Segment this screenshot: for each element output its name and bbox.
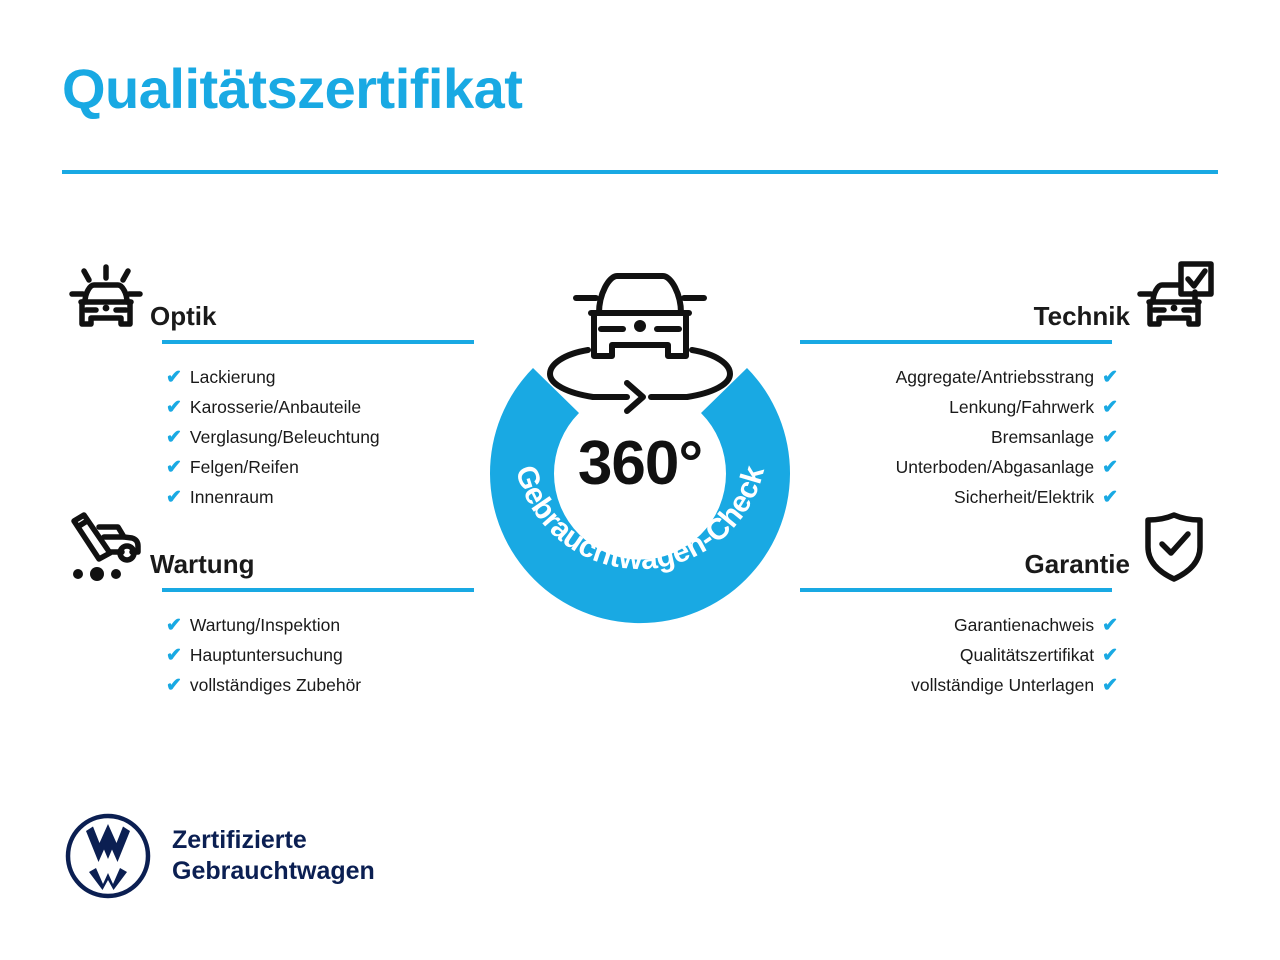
title-divider bbox=[62, 170, 1218, 174]
list-item: ✔Karosserie/Anbauteile bbox=[62, 392, 474, 422]
list-item-label: Verglasung/Beleuchtung bbox=[190, 422, 380, 452]
section-divider-technik bbox=[800, 340, 1112, 344]
list-item: Bremsanlage✔ bbox=[800, 422, 1218, 452]
shield-check-icon bbox=[1130, 510, 1218, 582]
section-divider-wartung bbox=[162, 588, 474, 592]
list-item-label: Lenkung/Fahrwerk bbox=[949, 392, 1094, 422]
check-icon: ✔ bbox=[166, 488, 182, 507]
check-icon: ✔ bbox=[1102, 676, 1118, 695]
list-item: ✔Verglasung/Beleuchtung bbox=[62, 422, 474, 452]
check-icon: ✔ bbox=[166, 398, 182, 417]
checklist-optik: ✔Lackierung ✔Karosserie/Anbauteile ✔Verg… bbox=[62, 362, 474, 512]
badge-center-label: 360° bbox=[455, 428, 825, 499]
list-item: ✔Wartung/Inspektion bbox=[62, 610, 474, 640]
list-item-label: Bremsanlage bbox=[991, 422, 1094, 452]
section-title-technik: Technik bbox=[800, 301, 1130, 334]
list-item: Garantienachweis✔ bbox=[800, 610, 1218, 640]
check-icon: ✔ bbox=[1102, 646, 1118, 665]
list-item: ✔Hauptuntersuchung bbox=[62, 640, 474, 670]
check-icon: ✔ bbox=[1102, 428, 1118, 447]
check-icon: ✔ bbox=[1102, 488, 1118, 507]
checklist-wartung: ✔Wartung/Inspektion ✔Hauptuntersuchung ✔… bbox=[62, 610, 474, 700]
check-icon: ✔ bbox=[166, 646, 182, 665]
car-service-pencil-icon bbox=[62, 510, 150, 582]
list-item: Sicherheit/Elektrik✔ bbox=[800, 482, 1218, 512]
section-title-optik: Optik bbox=[150, 301, 474, 334]
vw-footer: Zertifizierte Gebrauchtwagen bbox=[64, 812, 375, 900]
gebrauchtwagen-check-badge: Gebrauchtwagen-Check 360° bbox=[455, 250, 825, 630]
check-icon: ✔ bbox=[1102, 368, 1118, 387]
list-item-label: Garantienachweis bbox=[954, 610, 1094, 640]
list-item-label: Wartung/Inspektion bbox=[190, 610, 340, 640]
check-icon: ✔ bbox=[1102, 398, 1118, 417]
list-item-label: Karosserie/Anbauteile bbox=[190, 392, 361, 422]
check-icon: ✔ bbox=[166, 458, 182, 477]
car-rotate-icon bbox=[550, 276, 730, 411]
list-item: ✔vollständiges Zubehör bbox=[62, 670, 474, 700]
vw-logo bbox=[64, 812, 152, 900]
list-item-label: Aggregate/Antriebsstrang bbox=[896, 362, 1094, 392]
list-item: ✔Lackierung bbox=[62, 362, 474, 392]
list-item-label: Sicherheit/Elektrik bbox=[954, 482, 1094, 512]
list-item-label: Hauptuntersuchung bbox=[190, 640, 343, 670]
section-optik: Optik ✔Lackierung ✔Karosserie/Anbauteile… bbox=[62, 262, 474, 512]
list-item: ✔Innenraum bbox=[62, 482, 474, 512]
list-item: vollständige Unterlagen✔ bbox=[800, 670, 1218, 700]
section-technik: Technik Aggregate/Antriebsstrang✔ bbox=[800, 262, 1218, 512]
list-item-label: Innenraum bbox=[190, 482, 274, 512]
checklist-technik: Aggregate/Antriebsstrang✔ Lenkung/Fahrwe… bbox=[800, 362, 1218, 512]
vw-footer-text: Zertifizierte Gebrauchtwagen bbox=[172, 825, 375, 888]
check-icon: ✔ bbox=[1102, 458, 1118, 477]
list-item: ✔Felgen/Reifen bbox=[62, 452, 474, 482]
list-item-label: Lackierung bbox=[190, 362, 276, 392]
list-item-label: Felgen/Reifen bbox=[190, 452, 299, 482]
list-item: Aggregate/Antriebsstrang✔ bbox=[800, 362, 1218, 392]
section-divider-optik bbox=[162, 340, 474, 344]
list-item: Qualitätszertifikat✔ bbox=[800, 640, 1218, 670]
car-checkbox-icon bbox=[1130, 262, 1218, 334]
car-shine-icon bbox=[62, 262, 150, 334]
list-item-label: Qualitätszertifikat bbox=[960, 640, 1094, 670]
list-item: Lenkung/Fahrwerk✔ bbox=[800, 392, 1218, 422]
section-title-wartung: Wartung bbox=[150, 549, 474, 582]
check-icon: ✔ bbox=[166, 368, 182, 387]
list-item-label: Unterboden/Abgasanlage bbox=[896, 452, 1095, 482]
vw-footer-line1: Zertifizierte bbox=[172, 825, 375, 856]
check-icon: ✔ bbox=[1102, 616, 1118, 635]
section-divider-garantie bbox=[800, 588, 1112, 592]
check-icon: ✔ bbox=[166, 616, 182, 635]
section-title-garantie: Garantie bbox=[800, 549, 1130, 582]
certificate-page: Qualitätszertifikat Optik bbox=[0, 0, 1280, 960]
vw-footer-line2: Gebrauchtwagen bbox=[172, 856, 375, 887]
list-item-label: vollständiges Zubehör bbox=[190, 670, 361, 700]
list-item-label: vollständige Unterlagen bbox=[911, 670, 1094, 700]
list-item: Unterboden/Abgasanlage✔ bbox=[800, 452, 1218, 482]
check-icon: ✔ bbox=[166, 676, 182, 695]
page-title: Qualitätszertifikat bbox=[62, 58, 522, 120]
section-garantie: Garantie Garantienachweis✔ Qualitätszert… bbox=[800, 510, 1218, 700]
check-icon: ✔ bbox=[166, 428, 182, 447]
section-wartung: Wartung ✔Wartung/Inspektion ✔Hauptunters… bbox=[62, 510, 474, 700]
checklist-garantie: Garantienachweis✔ Qualitätszertifikat✔ v… bbox=[800, 610, 1218, 700]
